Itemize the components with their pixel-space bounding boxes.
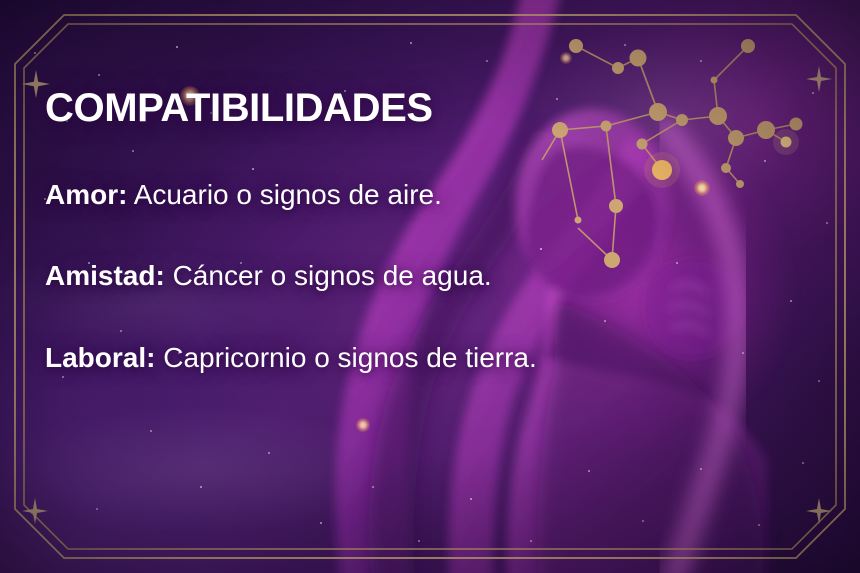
list-item-laboral: Laboral: Capricornio o signos de tierra. [45, 343, 825, 372]
amistad-value: Cáncer o signos de agua. [173, 260, 492, 291]
amor-label: Amor: [45, 179, 127, 210]
list-item-amistad: Amistad: Cáncer o signos de agua. [45, 261, 825, 290]
laboral-value: Capricornio o signos de tierra. [163, 342, 537, 373]
page-title: COMPATIBILIDADES [45, 88, 825, 128]
zodiac-compatibility-poster: COMPATIBILIDADES Amor: Acuario o signos … [0, 0, 860, 573]
poster-text-content: COMPATIBILIDADES Amor: Acuario o signos … [45, 88, 825, 372]
compatibility-list: Amor: Acuario o signos de aire. Amistad:… [45, 180, 825, 372]
amistad-label: Amistad: [45, 260, 165, 291]
amor-value: Acuario o signos de aire. [134, 179, 442, 210]
list-item-amor: Amor: Acuario o signos de aire. [45, 180, 825, 209]
laboral-label: Laboral: [45, 342, 155, 373]
